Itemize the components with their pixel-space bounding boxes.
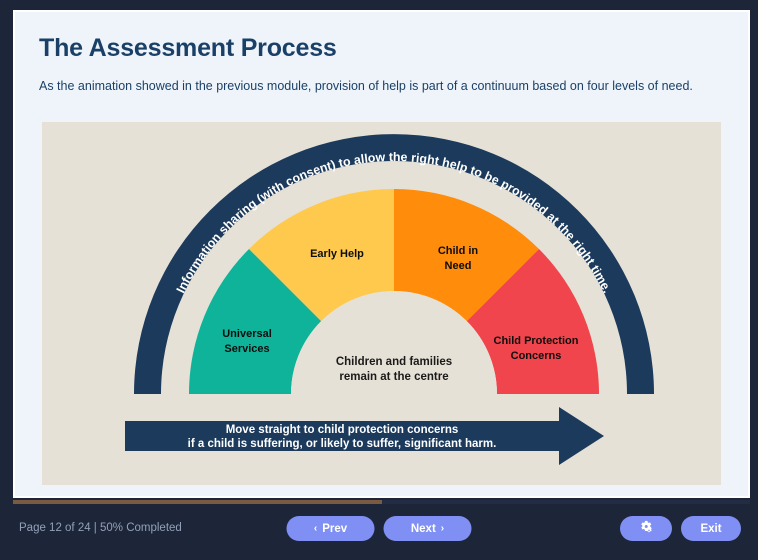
exit-button[interactable]: Exit — [681, 516, 741, 541]
segment-label-line2: Concerns — [511, 350, 562, 362]
segment-label-line1: Child Protection — [494, 335, 579, 347]
slide-viewer: The Assessment Process As the animation … — [0, 0, 758, 560]
exit-button-label: Exit — [700, 523, 721, 535]
segment-label-line1: Child in — [438, 245, 479, 257]
centre-caption-line1: Children and families — [336, 356, 452, 368]
chevron-right-icon: › — [441, 524, 444, 534]
banner-line2: if a child is suffering, or likely to su… — [188, 438, 497, 450]
segment-label-line2: Need — [445, 260, 472, 272]
page-title: The Assessment Process — [39, 34, 337, 63]
gear-icon — [639, 520, 654, 537]
diagram-panel: Information sharing (with consent) to al… — [42, 122, 721, 485]
slide-card: The Assessment Process As the animation … — [13, 10, 750, 498]
segment-label-line2: Services — [224, 343, 269, 355]
segment-label-early-help: Early Help — [310, 248, 364, 260]
bottom-nav-bar: Page 12 of 24 | 50% Completed ‹ Prev Nex… — [0, 506, 758, 560]
prev-button-label: Prev — [322, 523, 347, 535]
progress-fill — [13, 500, 382, 504]
nav-center-group: ‹ Prev Next › — [287, 516, 472, 541]
segment-label-line1: Early Help — [310, 248, 364, 260]
page-status-text: Page 12 of 24 | 50% Completed — [19, 522, 182, 534]
next-button-label: Next — [411, 523, 436, 535]
segment-label-line1: Universal — [222, 328, 272, 340]
page-subtitle: As the animation showed in the previous … — [39, 78, 729, 96]
banner-line1: Move straight to child protection concer… — [226, 424, 459, 436]
chevron-left-icon: ‹ — [314, 524, 317, 534]
continuum-diagram: Information sharing (with consent) to al… — [42, 122, 721, 485]
nav-right-group: Exit — [620, 516, 741, 541]
centre-caption-line2: remain at the centre — [339, 371, 448, 383]
prev-button[interactable]: ‹ Prev — [287, 516, 375, 541]
settings-button[interactable] — [620, 516, 672, 541]
next-button[interactable]: Next › — [384, 516, 472, 541]
escalation-arrow-banner: Move straight to child protection concer… — [125, 407, 604, 465]
progress-track — [13, 500, 750, 504]
